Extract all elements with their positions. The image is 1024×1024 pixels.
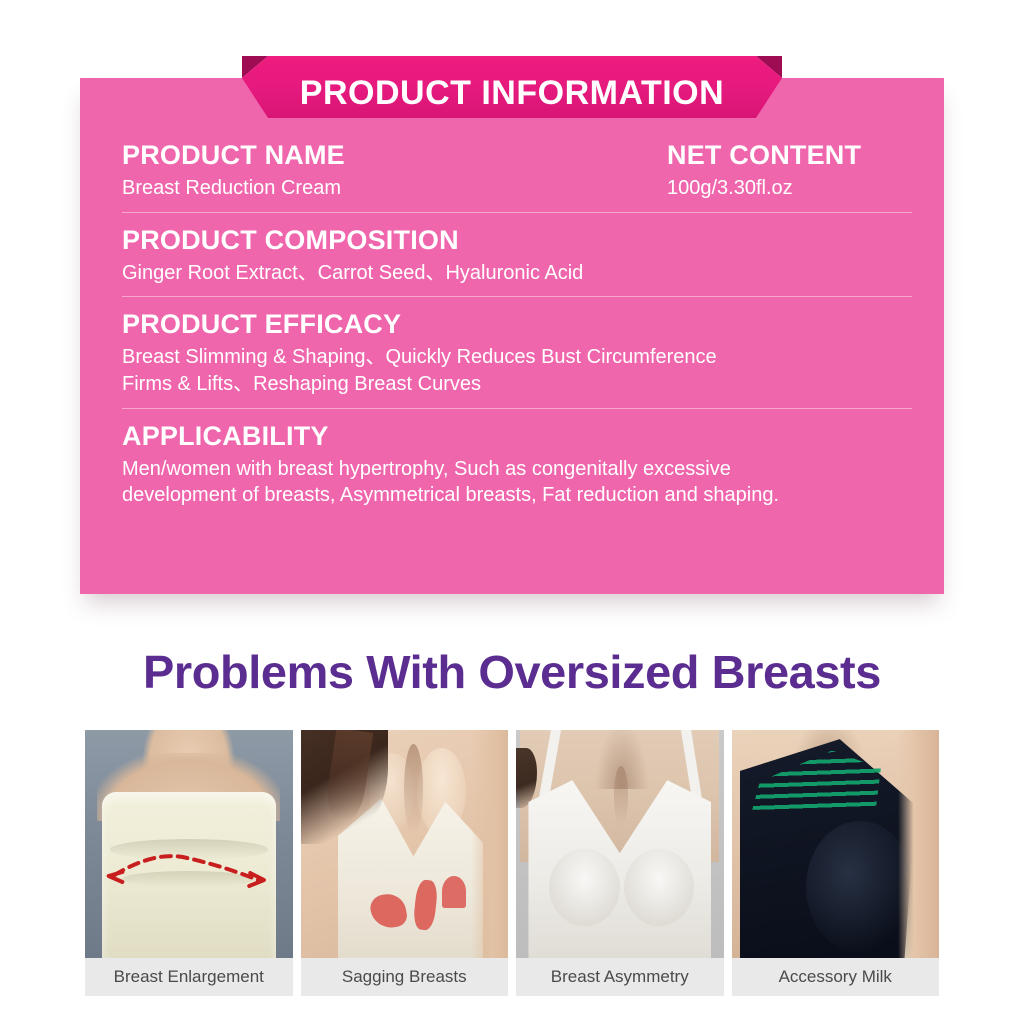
applicability-value-line1: Men/women with breast hypertrophy, Such … — [122, 456, 912, 483]
composition-label: PRODUCT COMPOSITION — [122, 225, 912, 257]
photo-detail-bust-right — [624, 849, 695, 927]
problem-card-accessory-milk[interactable]: Accessory Milk — [732, 730, 940, 996]
field-product-efficacy: PRODUCT EFFICACY Breast Slimming & Shapi… — [122, 309, 912, 407]
problems-section-heading: Problems With Oversized Breasts — [0, 645, 1024, 699]
problem-card-sagging-breasts[interactable]: Sagging Breasts — [301, 730, 509, 996]
product-information-page: PRODUCT INFORMATION PRODUCT NAME Breast … — [0, 0, 1024, 1024]
photo-detail-bust-left — [549, 849, 620, 927]
efficacy-label: PRODUCT EFFICACY — [122, 309, 912, 341]
efficacy-value-line1: Breast Slimming & Shaping、Quickly Reduce… — [122, 344, 912, 371]
composition-value: Ginger Root Extract、Carrot Seed、Hyaluron… — [122, 260, 912, 287]
caption-breast-enlargement: Breast Enlargement — [85, 958, 293, 996]
photo-sagging-breasts — [301, 730, 509, 958]
applicability-label: APPLICABILITY — [122, 421, 912, 453]
photo-detail-print-c — [442, 876, 467, 908]
applicability-value-line2: development of breasts, Asymmetrical bre… — [122, 482, 912, 509]
net-content-value: 100g/3.30fl.oz — [667, 175, 912, 202]
photo-breast-enlargement — [85, 730, 293, 958]
divider-1 — [122, 212, 912, 213]
photo-detail-arm — [471, 730, 508, 958]
photo-breast-asymmetry — [516, 730, 724, 958]
row-name-and-content: PRODUCT NAME Breast Reduction Cream NET … — [122, 140, 912, 212]
photo-accessory-milk — [732, 730, 940, 958]
product-name-value: Breast Reduction Cream — [122, 175, 667, 202]
ribbon-body: PRODUCT INFORMATION — [242, 56, 782, 118]
problem-cards-row: Breast Enlargement Sagging Breasts — [85, 730, 939, 996]
caption-breast-asymmetry: Breast Asymmetry — [516, 958, 724, 996]
photo-detail-arm — [898, 730, 940, 958]
product-name-label: PRODUCT NAME — [122, 140, 667, 172]
divider-3 — [122, 408, 912, 409]
divider-2 — [122, 296, 912, 297]
field-applicability: APPLICABILITY Men/women with breast hype… — [122, 421, 912, 519]
product-information-panel: PRODUCT INFORMATION PRODUCT NAME Breast … — [80, 78, 944, 594]
ribbon-banner: PRODUCT INFORMATION — [242, 56, 782, 118]
banner-title: PRODUCT INFORMATION — [300, 64, 724, 110]
field-product-name: PRODUCT NAME Breast Reduction Cream — [122, 140, 667, 202]
caption-sagging-breasts: Sagging Breasts — [301, 958, 509, 996]
panel-body: PRODUCT NAME Breast Reduction Cream NET … — [122, 140, 912, 580]
problem-card-breast-asymmetry[interactable]: Breast Asymmetry — [516, 730, 724, 996]
red-dashed-double-arrow-icon — [85, 730, 293, 958]
photo-detail-cleavage — [404, 744, 423, 835]
photo-detail-cleavage — [614, 766, 629, 825]
net-content-label: NET CONTENT — [667, 140, 912, 172]
field-net-content: NET CONTENT 100g/3.30fl.oz — [667, 140, 912, 202]
efficacy-value-line2: Firms & Lifts、Reshaping Breast Curves — [122, 371, 912, 398]
caption-accessory-milk: Accessory Milk — [732, 958, 940, 996]
problem-card-breast-enlargement[interactable]: Breast Enlargement — [85, 730, 293, 996]
field-product-composition: PRODUCT COMPOSITION Ginger Root Extract、… — [122, 225, 912, 297]
